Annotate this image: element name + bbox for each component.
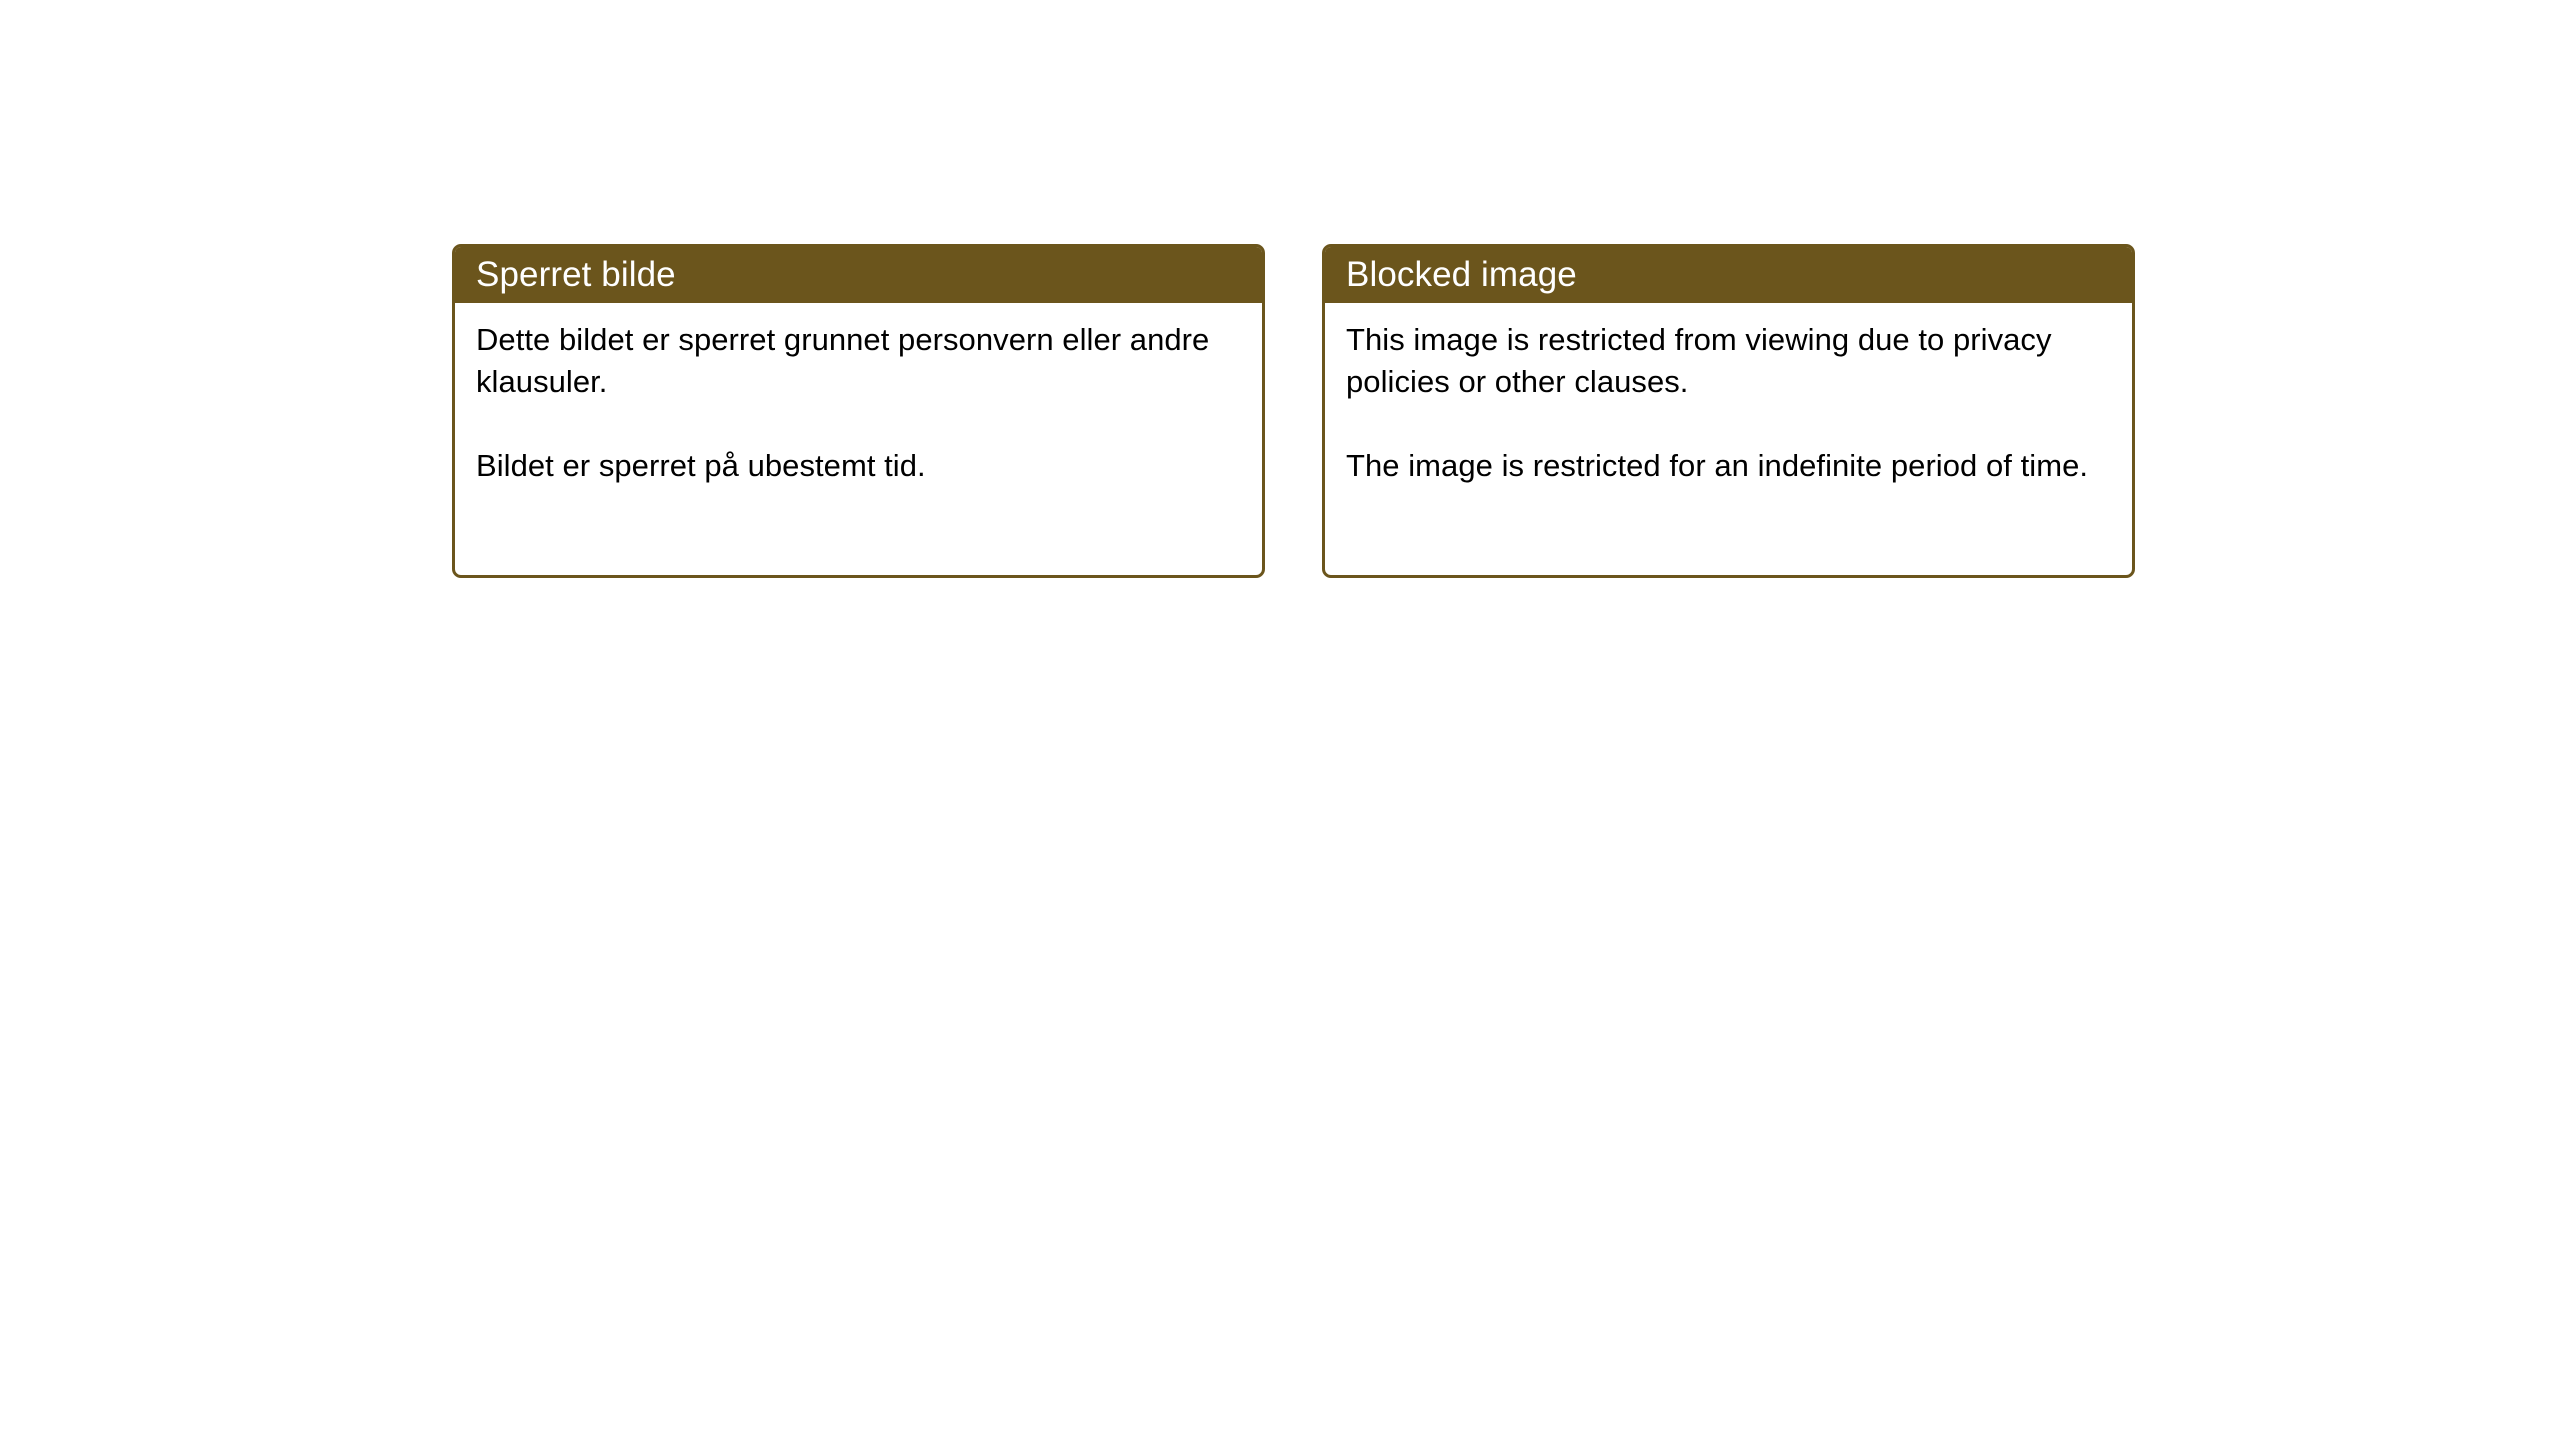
notice-body-norwegian: Dette bildet er sperret grunnet personve… [455, 303, 1262, 487]
notice-paragraph-duration-norwegian: Bildet er sperret på ubestemt tid. [476, 445, 1240, 487]
notice-header-english: Blocked image [1325, 247, 2132, 303]
blocked-image-notice-norwegian: Sperret bilde Dette bildet er sperret gr… [452, 244, 1265, 578]
notice-paragraph-duration-english: The image is restricted for an indefinit… [1346, 445, 2110, 487]
paragraph-spacer [1346, 403, 2110, 445]
notice-title-english: Blocked image [1346, 255, 1577, 295]
notice-paragraph-reason-norwegian: Dette bildet er sperret grunnet personve… [476, 319, 1240, 403]
paragraph-spacer [476, 403, 1240, 445]
notice-paragraph-reason-english: This image is restricted from viewing du… [1346, 319, 2110, 403]
page-root: Sperret bilde Dette bildet er sperret gr… [0, 0, 2560, 1440]
notice-title-norwegian: Sperret bilde [476, 255, 676, 295]
notice-body-english: This image is restricted from viewing du… [1325, 303, 2132, 487]
notice-header-norwegian: Sperret bilde [455, 247, 1262, 303]
blocked-image-notice-english: Blocked image This image is restricted f… [1322, 244, 2135, 578]
